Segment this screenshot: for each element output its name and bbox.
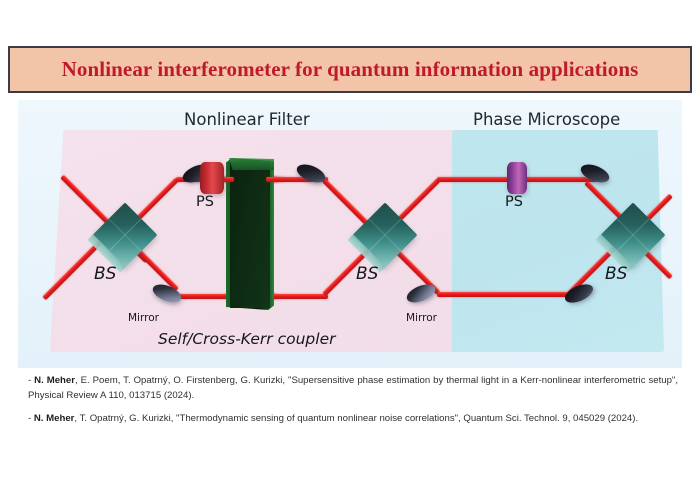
- phase-shifter-2: [507, 162, 527, 194]
- beam-crystal-to-mirror-bottom: [270, 294, 328, 299]
- kerr-crystal-front-face: [230, 162, 270, 308]
- label-beamsplitter-1: BS: [94, 264, 116, 284]
- citation-body-1: , E. Poem, T. Opatrný, O. Firstenberg, G…: [28, 375, 678, 401]
- label-phase-shifter-2: PS: [505, 194, 523, 210]
- references-list: - N. Meher, E. Poem, T. Opatrný, O. Firs…: [28, 374, 678, 436]
- citation-marker-2: -: [28, 413, 31, 424]
- label-beamsplitter-2: BS: [356, 264, 378, 284]
- section-label-phase-microscope: Phase Microscope: [473, 110, 620, 129]
- citation-item-2: - N. Meher, T. Opatrný, G. Kurizki, "The…: [28, 412, 678, 427]
- page-title: Nonlinear interferometer for quantum inf…: [62, 57, 639, 82]
- citation-body-2: , T. Opatrný, G. Kurizki, "Thermodynamic…: [74, 413, 638, 424]
- label-mirror-2: Mirror: [406, 312, 437, 324]
- citation-lead-author-1: N. Meher: [34, 375, 75, 386]
- section-label-nonlinear-filter: Nonlinear Filter: [184, 110, 310, 129]
- interferometer-diagram: Nonlinear Filter Phase Microscope: [18, 100, 682, 368]
- phase-shifter-1: [200, 162, 224, 194]
- label-beamsplitter-3: BS: [605, 264, 627, 284]
- label-kerr-coupler: Self/Cross-Kerr coupler: [158, 330, 336, 348]
- citation-lead-author-2: N. Meher: [34, 413, 75, 424]
- beam-microscope-lower-arm: [437, 292, 573, 297]
- kerr-crystal-top-face: [228, 158, 274, 170]
- slide-title-banner: Nonlinear interferometer for quantum inf…: [8, 46, 692, 93]
- beam-crystal-exit-highlight: [266, 177, 284, 182]
- label-phase-shifter-1: PS: [196, 194, 214, 210]
- citation-marker-1: -: [28, 375, 31, 386]
- citation-item-1: - N. Meher, E. Poem, T. Opatrný, O. Firs…: [28, 374, 678, 403]
- label-mirror-1: Mirror: [128, 312, 159, 324]
